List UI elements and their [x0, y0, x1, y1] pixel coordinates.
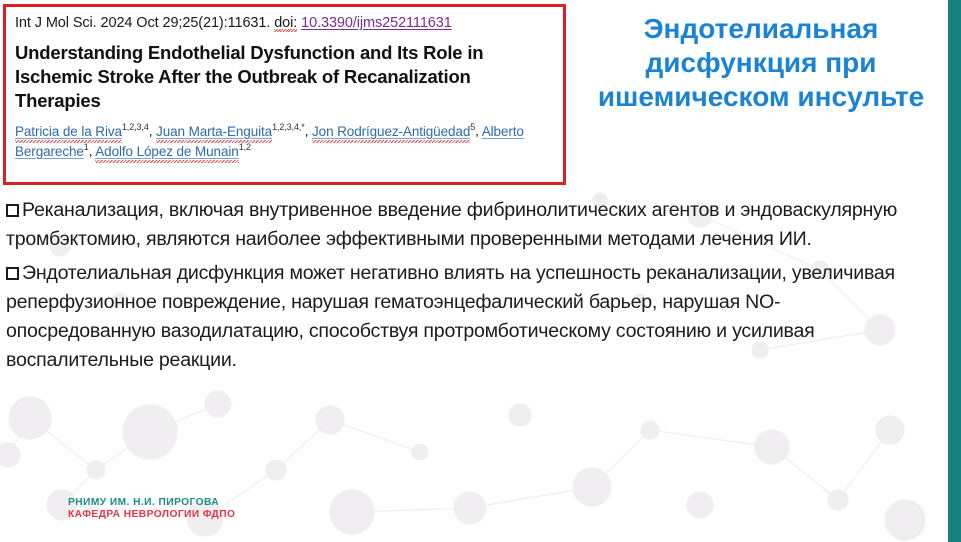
author-name[interactable]: Adolfo López de Munain	[95, 144, 238, 159]
doi-label: doi:	[274, 15, 297, 32]
square-bullet-icon	[6, 204, 19, 217]
doi-link[interactable]: 10.3390/ijms252111631	[301, 15, 452, 31]
article-title: Understanding Endothelial Dysfunction an…	[15, 41, 554, 113]
square-bullet-icon	[6, 267, 19, 280]
footer-department-name: КАФЕДРА НЕВРОЛОГИИ ФДПО	[68, 509, 235, 521]
author-separator: ,	[89, 144, 93, 159]
author-affiliation: 1,2,3,4	[122, 121, 149, 133]
author-separator: ,	[305, 124, 309, 139]
slide-canvas: Int J Mol Sci. 2024 Oct 29;25(21):11631.…	[0, 0, 961, 542]
author-list: Patricia de la Riva1,2,3,4, Juan Marta-E…	[15, 121, 554, 161]
bullet-paragraph: Эндотелиальная дисфункция может негативн…	[6, 259, 926, 374]
right-accent-bar	[948, 0, 961, 542]
journal-reference: Int J Mol Sci. 2024 Oct 29;25(21):11631.	[15, 15, 270, 31]
author-affiliation: 1,2,3,4,*	[272, 121, 305, 133]
slide-heading: Эндотелиальная дисфункция при ишемическо…	[586, 12, 936, 114]
footer-logotype: РНИМУ ИМ. Н.И. ПИРОГОВА КАФЕДРА НЕВРОЛОГ…	[68, 497, 235, 522]
author-name[interactable]: Patricia de la Riva	[15, 124, 122, 139]
citation-card: Int J Mol Sci. 2024 Oct 29;25(21):11631.…	[3, 4, 566, 185]
author-name[interactable]: Juan Marta-Enguita	[156, 124, 272, 139]
author-separator: ,	[475, 124, 479, 139]
author-separator: ,	[149, 124, 153, 139]
citation-reference-line: Int J Mol Sci. 2024 Oct 29;25(21):11631.…	[15, 14, 554, 32]
bullet-paragraph: Реканализация, включая внутривенное введ…	[6, 196, 926, 253]
author-affiliation: 1,2	[239, 141, 251, 153]
body-content: Реканализация, включая внутривенное введ…	[6, 196, 926, 380]
bullet-text: Реканализация, включая внутривенное введ…	[6, 199, 897, 250]
author-name[interactable]: Jon Rodríguez-Antigüedad	[312, 124, 470, 139]
bullet-text: Эндотелиальная дисфункция может негативн…	[6, 262, 895, 370]
footer-university-name: РНИМУ ИМ. Н.И. ПИРОГОВА	[68, 497, 235, 509]
